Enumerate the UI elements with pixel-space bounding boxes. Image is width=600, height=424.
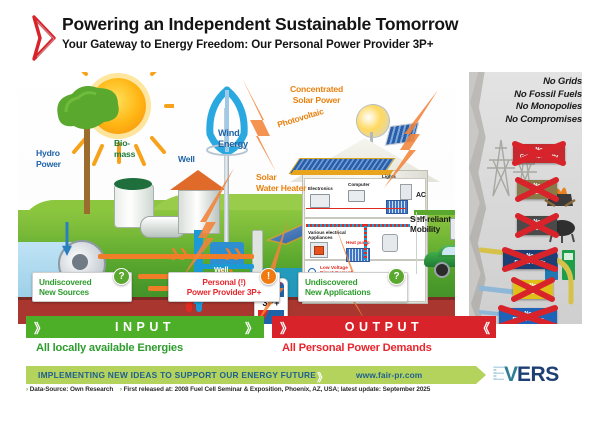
computer-monitor-icon	[348, 190, 365, 202]
evers-logo: E V ERS	[492, 362, 592, 388]
no-panel-headlines: No Grids No Fossil Fuels No Monopolies N…	[455, 76, 582, 126]
turbine-hub-icon	[72, 254, 88, 270]
label-hydro-power: Hydro Power	[36, 148, 61, 170]
no-panel: No Grids No Fossil Fuels No Monopolies N…	[455, 72, 582, 324]
sign-no-piped-water[interactable]: NoPiped Water	[499, 308, 557, 324]
callout-line1: Personal (!)	[175, 277, 273, 287]
sign-line2: Gas	[528, 290, 538, 296]
sign-no-wood[interactable]: NoWood	[517, 180, 557, 199]
room-label-computer: Computer	[348, 182, 370, 187]
room-label-lights: Lights	[382, 174, 396, 179]
sign-line2: Coal	[531, 226, 543, 232]
output-chevron-right: 《	[477, 318, 488, 337]
callout-line2: New Sources	[39, 287, 125, 297]
input-bar: 》 INPUT 》	[26, 316, 264, 338]
footer-note: › Data-Source: Own Research › First rele…	[26, 386, 430, 393]
tree-foliage-icon	[52, 82, 124, 138]
sign-line1: No	[533, 183, 540, 189]
footer-marker-2: ›	[120, 386, 122, 393]
sign-line2: Wood	[529, 190, 544, 196]
page-subtitle: Your Gateway to Energy Freedom: Our Pers…	[62, 37, 532, 52]
sign-line1: No	[533, 219, 540, 225]
callout-line1: Undiscovered	[305, 277, 401, 287]
input-chevron-right: 》	[245, 318, 256, 337]
well-body-icon	[178, 190, 220, 234]
room-label-electronics: Electronics	[308, 186, 333, 191]
sign-no-fossil-fuels[interactable]: NoFossil Fuels	[503, 250, 557, 269]
question-badge-applications[interactable]: ?	[388, 268, 405, 285]
sign-no-grid-electricity[interactable]: NoGrid Electricity	[513, 144, 565, 163]
input-label: INPUT	[115, 320, 175, 334]
sign-line2: Grid Electricity	[520, 154, 558, 160]
television-icon	[310, 194, 330, 208]
no-headline-0: No Grids	[455, 76, 582, 89]
footer-banner-text: IMPLEMENTING NEW IDEAS TO SUPPORT OUR EN…	[38, 370, 316, 380]
footer-url[interactable]: www.fair-pr.com	[356, 370, 422, 380]
callout-line2: Power Provider 3P+	[175, 287, 273, 297]
radiator-icon-top	[386, 200, 408, 214]
biomass-silo-lid-icon	[114, 178, 152, 190]
output-bar: 》 OUTPUT 《	[272, 316, 496, 338]
infographic-root: Powering an Independent Sustainable Tomo…	[0, 0, 600, 424]
sign-line1: No	[529, 283, 536, 289]
bathroom-fixture-icon	[382, 234, 398, 252]
footer-marker-1: ›	[26, 386, 28, 393]
page-title: Powering an Independent Sustainable Tomo…	[62, 14, 532, 34]
red-chevron-arrow-icon	[28, 14, 62, 62]
footer-note-part2: First released at: 2008 Fuel Cell Semina…	[124, 386, 431, 393]
sign-line1: No	[524, 311, 531, 317]
callout-line1: Undiscovered	[39, 277, 125, 287]
sign-no-coal[interactable]: NoCoal	[517, 216, 557, 235]
no-headline-3: No Compromises	[455, 114, 582, 127]
input-chevron-left: 》	[34, 318, 45, 337]
label-wind-energy: Wind Energy	[218, 128, 248, 150]
sign-no-gas[interactable]: NoGas	[513, 280, 553, 299]
exclamation-badge-provider[interactable]: !	[260, 268, 277, 285]
ac-label: AC	[416, 190, 426, 201]
ac-unit-icon	[400, 184, 412, 200]
label-concentrated-solar-power: Concentrated Solar Power	[290, 84, 343, 105]
logo-letter-e: E	[492, 363, 504, 387]
output-label: OUTPUT	[345, 320, 423, 334]
sign-line1: No	[535, 147, 542, 153]
input-caption: All locally available Energies	[36, 342, 183, 354]
label-solar-water-heater: Solar Water Heater	[256, 172, 306, 193]
title-block: Powering an Independent Sustainable Tomo…	[62, 14, 532, 52]
footer-banner-arrow	[476, 366, 486, 384]
question-badge-sources[interactable]: ?	[113, 268, 130, 285]
thermal-wire-middle	[306, 224, 410, 227]
sign-line2: Fossil Fuels	[514, 260, 545, 266]
label-well: Well	[178, 154, 195, 165]
logo-letters-ers: ERS	[517, 363, 559, 387]
car-wheel-front	[434, 262, 450, 278]
sign-line1: No	[526, 253, 533, 259]
sign-line2: Piped Water	[512, 317, 543, 323]
appliance-display-icon	[314, 246, 324, 255]
output-chevron-left: 》	[280, 318, 291, 337]
dc-wire-top	[306, 208, 406, 209]
label-biomass: Bio- mass	[114, 138, 135, 160]
output-caption: All Personal Power Demands	[282, 342, 432, 354]
callout-line2: New Applications	[305, 287, 401, 297]
footer-banner-chevron: 》	[317, 369, 326, 385]
thermal-riser	[364, 224, 367, 260]
no-headline-2: No Monopolies	[455, 101, 582, 114]
no-headline-1: No Fossil Fuels	[455, 89, 582, 102]
logo-letter-v: V	[504, 363, 517, 387]
footer-note-part1: Data-Source: Own Research	[30, 386, 113, 393]
